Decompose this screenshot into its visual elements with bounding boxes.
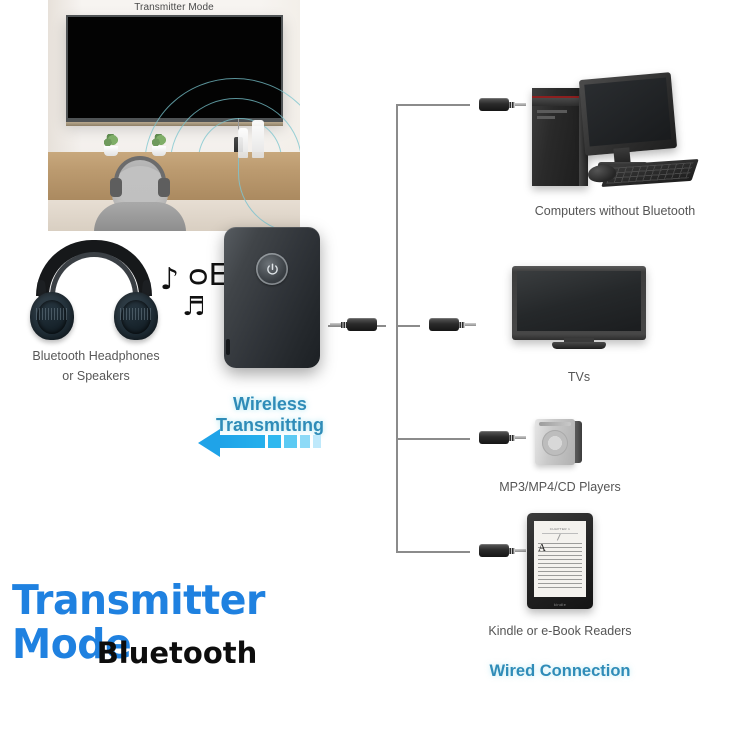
audio-jack-plug-device: [330, 318, 390, 331]
music-notes-group: ♪ ᴑE ♬: [160, 262, 222, 332]
plant-pot: [104, 146, 118, 156]
computer-label: Computers without Bluetooth: [492, 204, 738, 218]
treble-clef-icon: ᴑE: [188, 258, 227, 293]
television-icon: [512, 266, 646, 350]
worn-headphones-band: [114, 156, 166, 182]
desktop-computer-icon: [532, 76, 698, 194]
ereader-ornament: [557, 534, 566, 543]
jack-housing: [479, 98, 509, 111]
plant-leaves: [151, 134, 167, 146]
page-subtitle: Bluetooth: [12, 636, 342, 670]
tv-screen: [517, 271, 641, 331]
arrow-segment: [268, 435, 281, 448]
audio-jack-plug-tv: [416, 318, 476, 331]
audio-jack-plug-computer: [466, 98, 526, 111]
wired-connection-label: Wired Connection: [462, 662, 658, 681]
earcup-branding: [36, 308, 68, 320]
mp3-body: [535, 419, 575, 465]
pc-monitor: [579, 72, 677, 156]
tv-label: TVs: [512, 370, 646, 384]
glass-vase: [238, 128, 248, 158]
ereader-screen: CHAPTER 1 A: [534, 521, 586, 597]
ereader-label: Kindle or e-Book Readers: [462, 624, 658, 638]
arrow-segment: [313, 435, 321, 448]
wireless-direction-arrow: [198, 425, 338, 461]
glass-vase: [252, 120, 264, 158]
audio-jack-plug-mp3: [466, 431, 526, 444]
mp3-player-icon: [535, 419, 583, 467]
jack-housing: [479, 431, 509, 444]
arrow-segment: [284, 435, 297, 448]
photo-mode-label: Transmitter Mode: [48, 2, 300, 13]
potted-plant: [104, 134, 119, 156]
room-scene-photo: Transmitter Mode: [48, 0, 300, 231]
e-reader-icon: CHAPTER 1 A kindle: [527, 513, 593, 609]
beamed-notes-icon: ♬: [182, 292, 205, 322]
earcup-branding: [120, 308, 152, 320]
power-button[interactable]: [256, 253, 288, 285]
arrow-head: [198, 429, 220, 457]
mp3-label: MP3/MP4/CD Players: [470, 480, 650, 494]
pc-drive-bay: [537, 110, 567, 113]
pc-drive-bay: [537, 116, 555, 119]
headphones-label-line1: Bluetooth Headphones: [0, 346, 192, 366]
person-silhouette: [94, 158, 186, 231]
mp3-top-controls: [539, 422, 571, 426]
device-side-port: [226, 339, 230, 355]
ereader-brand-logo: kindle: [554, 602, 566, 607]
plant-leaves: [103, 134, 119, 146]
headphones-label-line2: or Speakers: [0, 366, 192, 386]
pc-monitor-screen: [584, 78, 671, 147]
arrow-tail: [219, 435, 265, 448]
jack-housing: [479, 544, 509, 557]
person-shoulders: [94, 202, 186, 231]
earcup-left: [30, 292, 74, 340]
bluetooth-transmitter-device[interactable]: [224, 227, 320, 368]
mp3-click-wheel: [542, 430, 568, 456]
music-note-icon: ♪: [160, 262, 179, 297]
worn-headphones-cup: [158, 178, 170, 197]
cable-branch-mp3: [396, 438, 470, 440]
worn-headphones-cup: [110, 178, 122, 197]
potted-plant: [152, 134, 167, 156]
ereader-drop-cap: A: [538, 543, 546, 554]
cable-branch-computer: [396, 104, 470, 106]
arrow-segment: [300, 435, 310, 448]
cable-branch-ereader: [396, 551, 470, 553]
headphones-icon: [28, 240, 160, 340]
diagram-canvas: Transmitter Mode ♪ ᴑE ♬ Bluetooth Headph…: [0, 0, 750, 750]
audio-jack-plug-ereader: [466, 544, 526, 557]
power-icon: [265, 262, 280, 277]
tv-stand-base: [552, 342, 606, 349]
ereader-body: CHAPTER 1 A kindle: [527, 513, 593, 609]
plant-pot: [152, 146, 166, 156]
jack-housing: [429, 318, 459, 331]
earcup-right: [114, 292, 158, 340]
cable-vertical-trunk: [396, 104, 398, 552]
headphones-label: Bluetooth Headphones or Speakers: [0, 346, 192, 386]
tv-bezel: [512, 266, 646, 340]
ereader-chapter-heading: CHAPTER 1: [550, 527, 570, 531]
keyboard-keys: [606, 162, 693, 184]
jack-housing: [347, 318, 377, 331]
